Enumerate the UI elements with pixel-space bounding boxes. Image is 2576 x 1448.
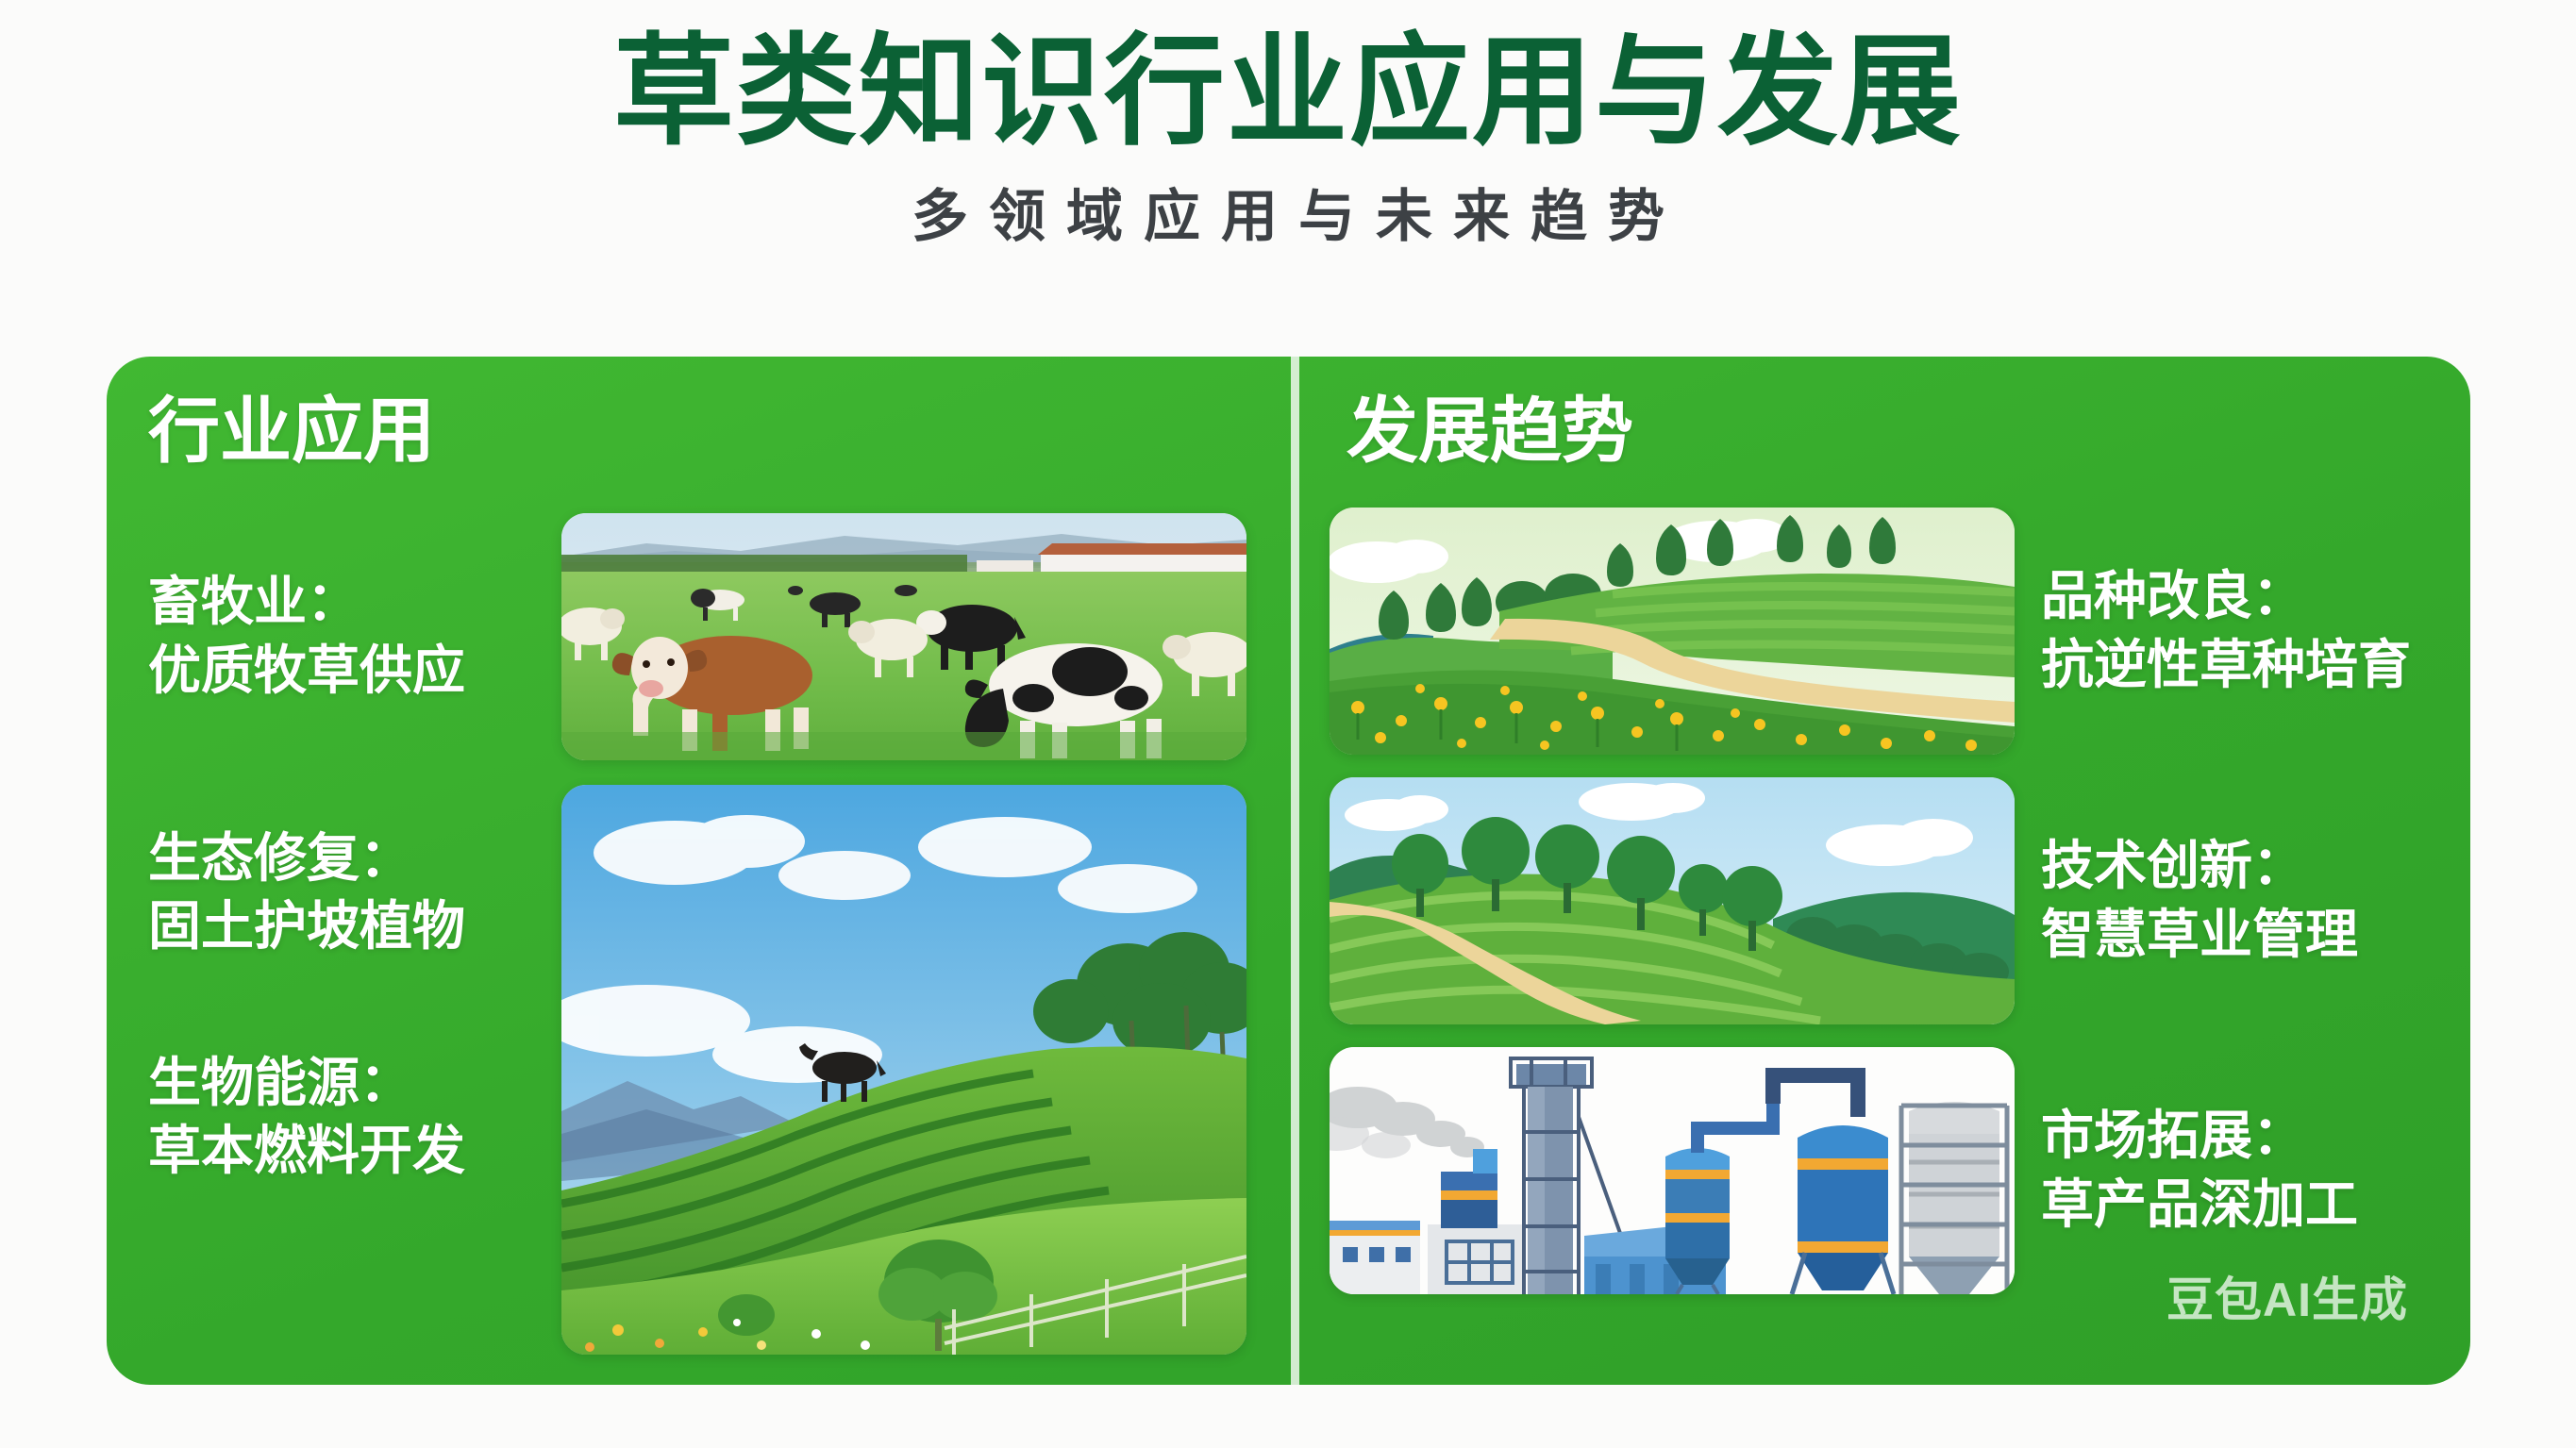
left-item-1-key: 畜牧业： [148, 568, 552, 637]
right-item-1-text: 品种改良： 抗逆性草种培育 [2041, 562, 2428, 700]
processing-factory-illustration [1330, 1047, 2015, 1294]
terraced-hillside-photo [561, 785, 1246, 1355]
column-development-trends: 发展趋势 [1288, 357, 2469, 1385]
content-panel: 行业应用 畜牧业： 优质牧草供应 [107, 357, 2470, 1385]
right-item-2-key: 技术创新： [2041, 832, 2428, 901]
list-item[interactable]: 市场拓展： 草产品深加工 [1330, 1047, 2428, 1294]
right-item-2-text: 技术创新： 智慧草业管理 [2041, 832, 2428, 970]
column-industry-applications: 行业应用 畜牧业： 优质牧草供应 [107, 357, 1288, 1385]
page-subtitle: 多领域应用与未来趋势 [0, 171, 2576, 253]
left-item-3-text: 生物能源： 草本燃料开发 [148, 1049, 620, 1187]
right-item-3-text: 市场拓展： 草产品深加工 [2041, 1102, 2428, 1240]
column-heading-right: 发展趋势 [1330, 392, 2428, 472]
list-item[interactable]: 技术创新： 智慧草业管理 [1330, 777, 2428, 1024]
right-item-3-key: 市场拓展： [2041, 1102, 2428, 1171]
rolling-fields-flowers-illustration [1330, 508, 2015, 755]
left-item-2-key: 生态修复： [148, 824, 552, 893]
right-item-2-value: 智慧草业管理 [2041, 901, 2428, 970]
column-heading-left: 行业应用 [148, 392, 1246, 472]
left-item-2-text: 生态修复： 固土护坡植物 [148, 824, 552, 962]
list-item[interactable]: 畜牧业： 优质牧草供应 [148, 513, 1246, 760]
right-rows: 品种改良： 抗逆性草种培育 [1330, 481, 2428, 1317]
list-item[interactable]: 品种改良： 抗逆性草种培育 [1330, 508, 2428, 755]
left-item-2-value: 固土护坡植物 [148, 892, 552, 961]
right-item-3-value: 草产品深加工 [2041, 1171, 2428, 1240]
left-rows: 畜牧业： 优质牧草供应 [148, 481, 1246, 1187]
right-item-1-key: 品种改良： [2041, 562, 2428, 631]
left-item-1-text: 畜牧业： 优质牧草供应 [148, 568, 552, 706]
page-header: 草类知识行业应用与发展 多领域应用与未来趋势 [0, 0, 2576, 253]
green-hills-trees-path-illustration [1330, 777, 2015, 1024]
left-item-3-key: 生物能源： [148, 1049, 620, 1118]
pasture-cattle-sheep-photo [561, 513, 1246, 760]
left-item-1-value: 优质牧草供应 [148, 637, 552, 706]
left-item-3-value: 草本燃料开发 [148, 1117, 620, 1186]
right-item-1-value: 抗逆性草种培育 [2041, 631, 2428, 700]
page-title: 草类知识行业应用与发展 [0, 25, 2576, 159]
